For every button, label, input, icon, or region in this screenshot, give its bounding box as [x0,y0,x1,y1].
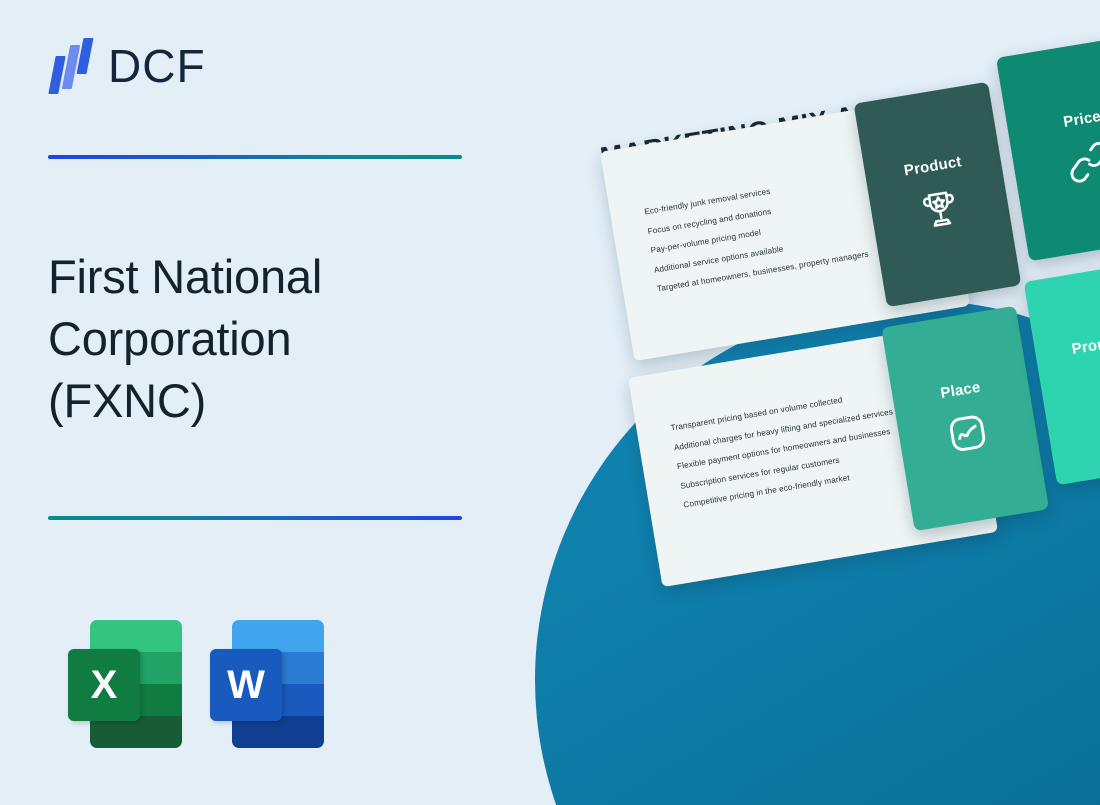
word-badge-letter: W [210,649,282,721]
cloud-bolt-icon [1090,359,1100,412]
company-name-line-2: Corporation [48,308,478,370]
tile-promotion-label: Promotion [1070,328,1100,357]
wave-chart-square-icon [941,406,994,459]
link-chain-icon [1063,135,1100,188]
divider-bottom [48,516,462,520]
excel-badge-letter: X [68,649,140,721]
trophy-icon [913,182,966,235]
word-file-icon[interactable]: W [210,620,324,748]
tile-price-label: Price [1062,107,1100,130]
bar-chart-mark-icon [48,38,94,94]
dcf-logo[interactable]: DCF [48,38,206,94]
slide-canvas: DCF First National Corporation (FXNC) X … [0,0,1100,805]
excel-file-icon[interactable]: X [68,620,182,748]
tile-product-label: Product [903,153,963,179]
file-format-icons: X W [68,620,324,748]
logo-wordmark: DCF [108,43,206,89]
page-title: First National Corporation (FXNC) [48,246,478,432]
marketing-mix-artwork: MARKETING MIX ANALYSIS Eco-friendly junk… [520,0,1100,805]
divider-top [48,155,462,159]
company-name-line-3: (FXNC) [48,370,478,432]
tiles-stage: Eco-friendly junk removal services Focus… [520,0,1100,805]
tile-place-label: Place [939,378,981,401]
company-name-line-1: First National [48,246,478,308]
